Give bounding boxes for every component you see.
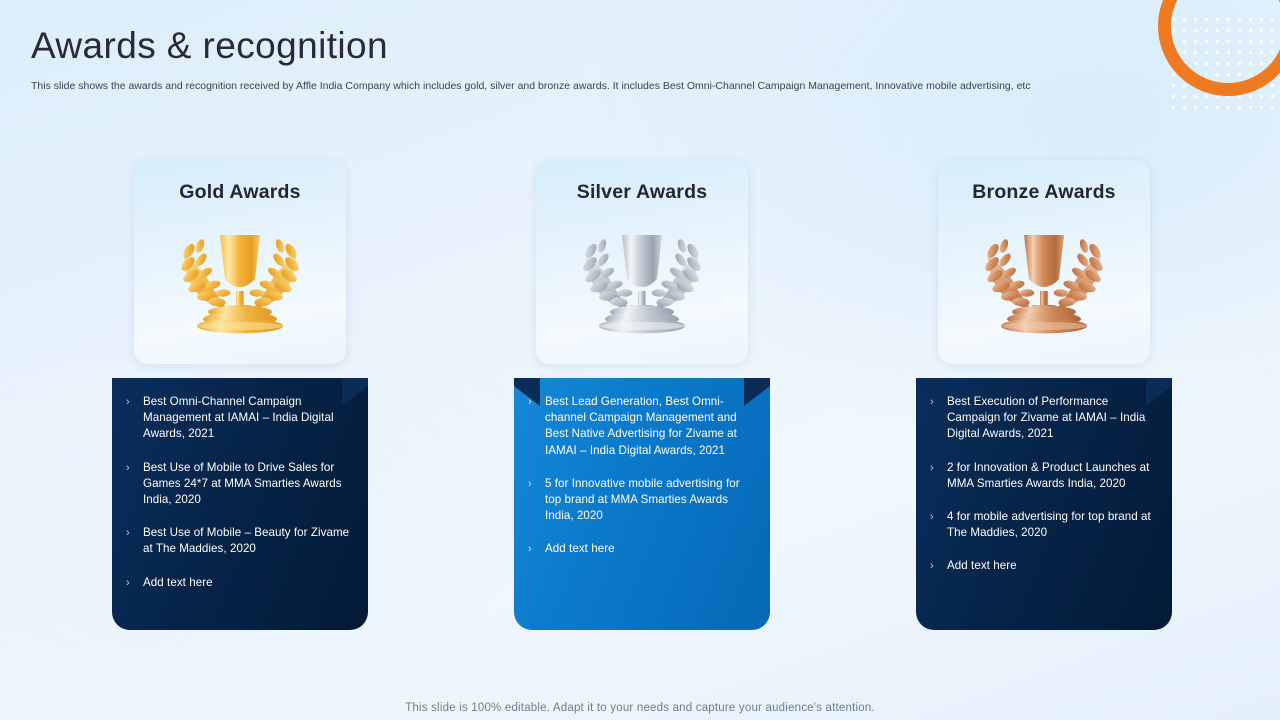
- ribbon-fold-right-icon: [342, 378, 368, 406]
- page-title: Awards & recognition: [31, 26, 388, 67]
- add-text-placeholder[interactable]: Add text here: [545, 541, 615, 557]
- add-text-placeholder[interactable]: Add text here: [947, 558, 1017, 574]
- list-item: ›Best Use of Mobile to Drive Sales for G…: [126, 460, 352, 509]
- chevron-bullet-icon: ›: [126, 575, 143, 591]
- list-item-text: Best Use of Mobile to Drive Sales for Ga…: [143, 460, 352, 509]
- award-panel-wrap-bronze: ›Best Execution of Performance Campaign …: [916, 378, 1172, 630]
- list-item-text: 2 for Innovation & Product Launches at M…: [947, 460, 1156, 492]
- add-text-placeholder[interactable]: Add text here: [143, 575, 213, 591]
- list-item-text: Best Use of Mobile – Beauty for Zivame a…: [143, 525, 352, 557]
- award-panel-silver: ›Best Lead Generation, Best Omni-channel…: [514, 378, 770, 630]
- award-panel-gold: ›Best Omni-Channel Campaign Management a…: [112, 378, 368, 630]
- bronze-trophy-laurel-icon: [938, 213, 1150, 341]
- award-bullet-list-bronze: ›Best Execution of Performance Campaign …: [930, 394, 1156, 575]
- chevron-bullet-icon: ›: [126, 460, 143, 476]
- list-item: ›Best Execution of Performance Campaign …: [930, 394, 1156, 443]
- list-item[interactable]: ›Add text here: [528, 541, 754, 557]
- ribbon-fold-right-icon: [1146, 378, 1172, 406]
- ribbon-fold-right-icon: [744, 378, 770, 406]
- list-item-text: Best Lead Generation, Best Omni-channel …: [545, 394, 754, 459]
- list-item-text: 4 for mobile advertising for top brand a…: [947, 509, 1156, 541]
- gold-trophy-laurel-icon: [134, 213, 346, 341]
- list-item-text: Best Execution of Performance Campaign f…: [947, 394, 1156, 443]
- award-title-silver: Silver Awards: [536, 181, 748, 204]
- award-tile-bronze: Bronze Awards: [938, 160, 1150, 364]
- list-item: ›Best Use of Mobile – Beauty for Zivame …: [126, 525, 352, 557]
- award-column-bronze: Bronze Awards: [916, 160, 1172, 630]
- awards-board: Gold Awards: [0, 160, 1280, 660]
- award-panel-wrap-gold: ›Best Omni-Channel Campaign Management a…: [112, 378, 368, 630]
- award-title-bronze: Bronze Awards: [938, 181, 1150, 204]
- list-item[interactable]: ›Add text here: [930, 558, 1156, 574]
- list-item[interactable]: ›Add text here: [126, 575, 352, 591]
- list-item-text: Best Omni-Channel Campaign Management at…: [143, 394, 352, 443]
- ribbon-fold-left-icon: [916, 378, 942, 406]
- chevron-bullet-icon: ›: [930, 460, 947, 476]
- list-item-text: 5 for Innovative mobile advertising for …: [545, 476, 754, 525]
- list-item: ›Best Omni-Channel Campaign Management a…: [126, 394, 352, 443]
- award-column-silver: Silver Awards: [514, 160, 770, 630]
- silver-trophy-laurel-icon: [536, 213, 748, 341]
- award-tile-gold: Gold Awards: [134, 160, 346, 364]
- award-panel-wrap-silver: ›Best Lead Generation, Best Omni-channel…: [514, 378, 770, 630]
- award-bullet-list-silver: ›Best Lead Generation, Best Omni-channel…: [528, 394, 754, 558]
- chevron-bullet-icon: ›: [126, 525, 143, 541]
- editable-note: This slide is 100% editable. Adapt it to…: [0, 702, 1280, 714]
- page-subtitle: This slide shows the awards and recognit…: [31, 79, 1191, 93]
- award-bullet-list-gold: ›Best Omni-Channel Campaign Management a…: [126, 394, 352, 591]
- chevron-bullet-icon: ›: [930, 509, 947, 525]
- award-title-gold: Gold Awards: [134, 181, 346, 204]
- ribbon-fold-left-icon: [514, 378, 540, 406]
- list-item: ›5 for Innovative mobile advertising for…: [528, 476, 754, 525]
- chevron-bullet-icon: ›: [930, 558, 947, 574]
- list-item: ›2 for Innovation & Product Launches at …: [930, 460, 1156, 492]
- chevron-bullet-icon: ›: [528, 541, 545, 557]
- chevron-bullet-icon: ›: [528, 476, 545, 492]
- list-item: ›4 for mobile advertising for top brand …: [930, 509, 1156, 541]
- award-tile-silver: Silver Awards: [536, 160, 748, 364]
- award-panel-bronze: ›Best Execution of Performance Campaign …: [916, 378, 1172, 630]
- list-item: ›Best Lead Generation, Best Omni-channel…: [528, 394, 754, 459]
- award-column-gold: Gold Awards: [112, 160, 368, 630]
- ribbon-fold-left-icon: [112, 378, 138, 406]
